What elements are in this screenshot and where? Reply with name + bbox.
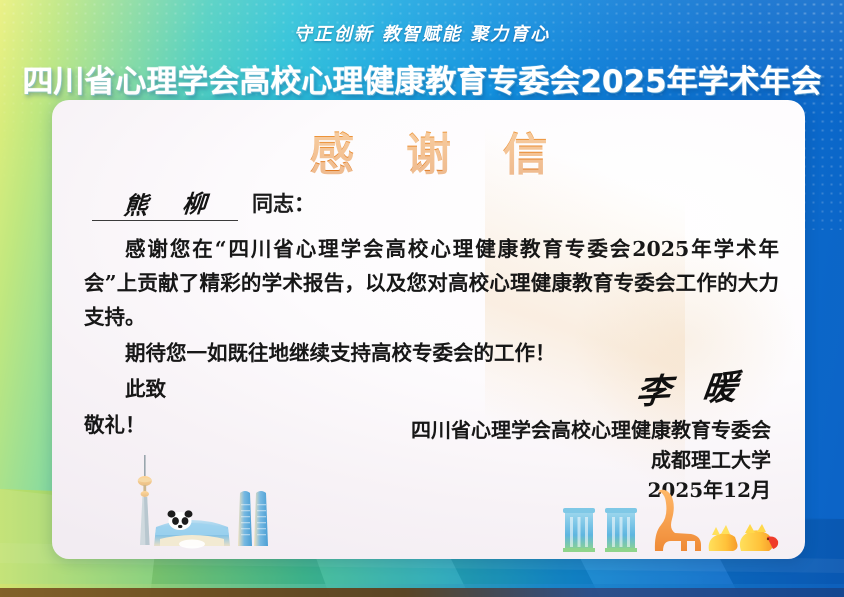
banner-slogan: 守正创新 教智赋能 聚力育心 [0,20,844,46]
certificate-canvas: 守正创新 教智赋能 聚力育心 四川省心理学会高校心理健康教育专委会2025年学术… [0,0,844,597]
banner-title: 四川省心理学会高校心理健康教育专委会2025年学术年会 [0,56,844,101]
pavilion-icon-1 [563,508,595,552]
stadium-icon [154,520,230,549]
salutation-suffix: 同志： [252,188,315,221]
dinosaur-fossil-icon [709,524,778,551]
signature-handwriting: 李 暖 [634,359,751,414]
signature-org: 四川省心理学会高校心理健康教育专委会 [411,415,771,445]
signature-university: 成都理工大学 [411,445,771,475]
letter-paragraph-1: 感谢您在“四川省心理学会高校心理健康教育专委会2025年学术年会”上贡献了精彩的… [84,232,779,334]
twin-towers-icon [238,491,268,546]
pavilion-icon-2 [605,508,637,552]
floor-edge [0,588,844,597]
recipient-name: 熊 柳 [109,183,220,221]
salutation-row: 熊 柳 同志： [92,184,315,221]
chengdu-skyline-illustration [82,449,302,559]
tv-tower-icon [138,455,152,545]
dinosaur-museum-illustration [559,481,789,559]
document-title: 感 谢 信 [52,118,805,183]
recipient-name-slot: 熊 柳 [92,184,238,221]
sauropod-dinosaur-icon [655,490,701,551]
letter-card: 感 谢 信 熊 柳 同志： 感谢您在“四川省心理学会高校心理健康教育专委会202… [52,100,805,559]
